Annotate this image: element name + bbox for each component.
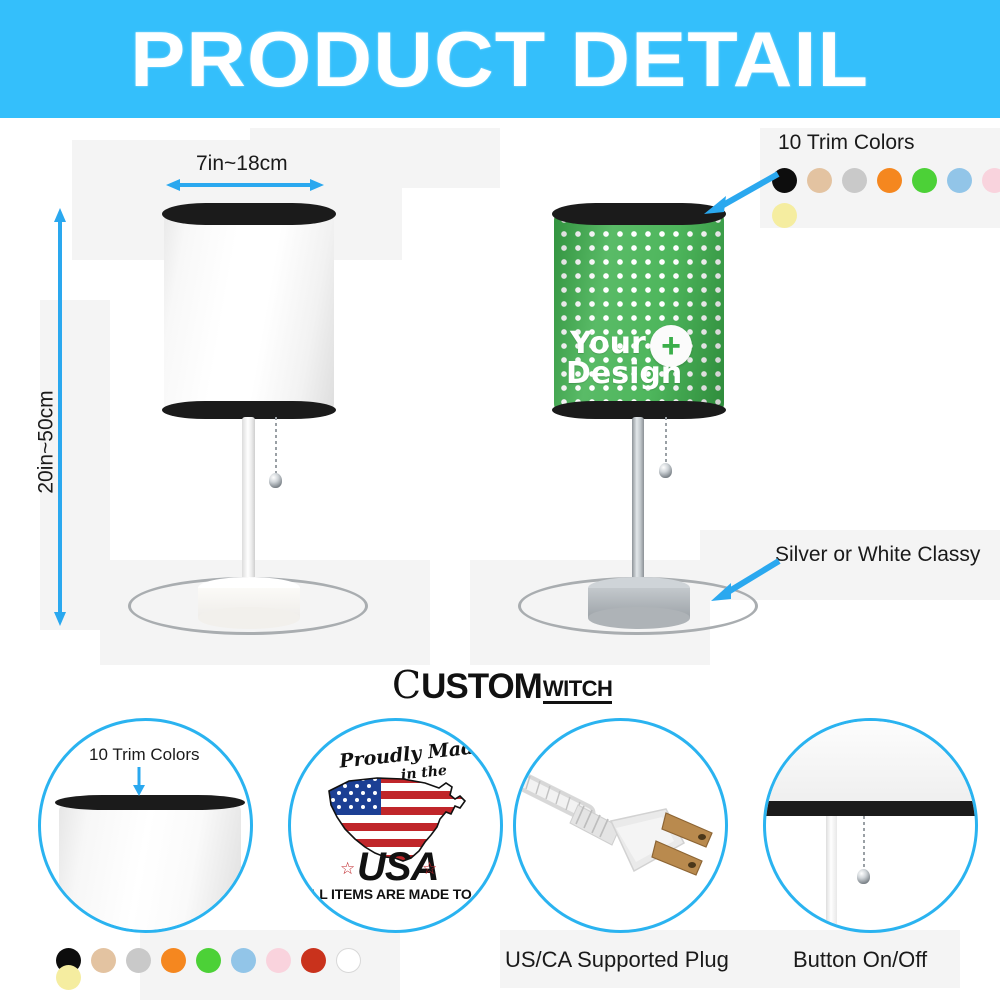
swatch-gray[interactable] bbox=[126, 948, 151, 973]
pull-chain-ball[interactable] bbox=[269, 473, 282, 488]
feature-circle-plug bbox=[513, 718, 728, 933]
feature-circle-made-in-usa: Proudly Made in the bbox=[288, 718, 503, 933]
lamp-pole-white bbox=[242, 417, 255, 597]
zoom-trim-bar bbox=[763, 801, 978, 816]
swatch-light-blue[interactable] bbox=[947, 168, 972, 193]
lampshade-white bbox=[164, 211, 334, 413]
trim-color-swatches-bottom-row2[interactable] bbox=[56, 965, 81, 990]
swatch-white[interactable] bbox=[336, 948, 361, 973]
design-text-line2: Design bbox=[566, 359, 682, 390]
feature-circle-trim-colors: 10 Trim Colors bbox=[38, 718, 253, 933]
height-dimension-arrow bbox=[53, 208, 67, 626]
logo-c-mark: C bbox=[392, 666, 421, 704]
swatch-yellow[interactable] bbox=[56, 965, 81, 990]
pull-chain[interactable] bbox=[275, 417, 277, 475]
pull-chain-ball[interactable] bbox=[659, 463, 672, 478]
usa-star-left: ☆ bbox=[340, 859, 355, 879]
width-dimension-label: 7in~18cm bbox=[196, 152, 288, 176]
swatch-gray[interactable] bbox=[842, 168, 867, 193]
pull-chain[interactable] bbox=[665, 417, 667, 465]
caption-plug: US/CA Supported Plug bbox=[505, 947, 729, 973]
zoom-pull-chain-ball[interactable] bbox=[857, 869, 870, 884]
trim-pointer-arrow-top bbox=[696, 168, 782, 216]
lamp-white bbox=[120, 195, 410, 645]
zoom-pole bbox=[826, 816, 837, 933]
switch-closeup bbox=[766, 721, 975, 930]
design-text-line1: Your bbox=[570, 329, 646, 360]
lamp-base-silver bbox=[588, 577, 690, 629]
zoom-shade-bottom bbox=[763, 721, 978, 803]
swatch-tan[interactable] bbox=[807, 168, 832, 193]
swatch-pink[interactable] bbox=[982, 168, 1000, 193]
trim-color-swatches-top[interactable] bbox=[772, 168, 1000, 193]
zoom-pull-chain[interactable] bbox=[863, 816, 865, 871]
swatch-red[interactable] bbox=[301, 948, 326, 973]
swatch-orange[interactable] bbox=[877, 168, 902, 193]
usa-star-right: ☆ bbox=[422, 859, 437, 879]
caption-switch: Button On/Off bbox=[793, 947, 927, 973]
power-plug-icon bbox=[516, 721, 728, 933]
width-dimension-arrow bbox=[166, 178, 324, 192]
lamp-base-white bbox=[198, 577, 300, 629]
swatch-light-blue[interactable] bbox=[231, 948, 256, 973]
trim-color-swatches-bottom[interactable] bbox=[56, 948, 361, 973]
brand-logo: C USTOM WITCH bbox=[392, 666, 612, 704]
logo-suffix: WITCH bbox=[543, 678, 613, 704]
feature-circle-switch bbox=[763, 718, 978, 933]
swatch-orange[interactable] bbox=[161, 948, 186, 973]
usa-badge: Proudly Made in the bbox=[291, 721, 500, 930]
logo-wordmark: USTOM bbox=[421, 669, 542, 704]
page-banner: PRODUCT DETAIL bbox=[0, 0, 1000, 118]
zoom-shade-trim bbox=[55, 795, 245, 810]
feature-trim-arrow bbox=[132, 767, 146, 797]
trim-colors-title-top: 10 Trim Colors bbox=[778, 131, 915, 155]
base-finish-arrow bbox=[705, 555, 785, 605]
swatch-green[interactable] bbox=[912, 168, 937, 193]
lamp-pole-silver bbox=[632, 417, 644, 597]
page-title: PRODUCT DETAIL bbox=[130, 14, 869, 105]
base-finish-label: Silver or White Classy bbox=[775, 543, 980, 567]
usa-subtitle: ALL ITEMS ARE MADE TO ORDER! bbox=[301, 886, 503, 902]
feature-trim-caption: 10 Trim Colors bbox=[89, 745, 200, 765]
swatch-tan[interactable] bbox=[91, 948, 116, 973]
product-detail-page: PRODUCT DETAIL 7in~18cm 20in~50cm bbox=[0, 0, 1000, 1000]
swatch-green[interactable] bbox=[196, 948, 221, 973]
swatch-pink[interactable] bbox=[266, 948, 291, 973]
shade-trim-top bbox=[162, 203, 336, 225]
zoom-shade-body bbox=[59, 803, 241, 933]
